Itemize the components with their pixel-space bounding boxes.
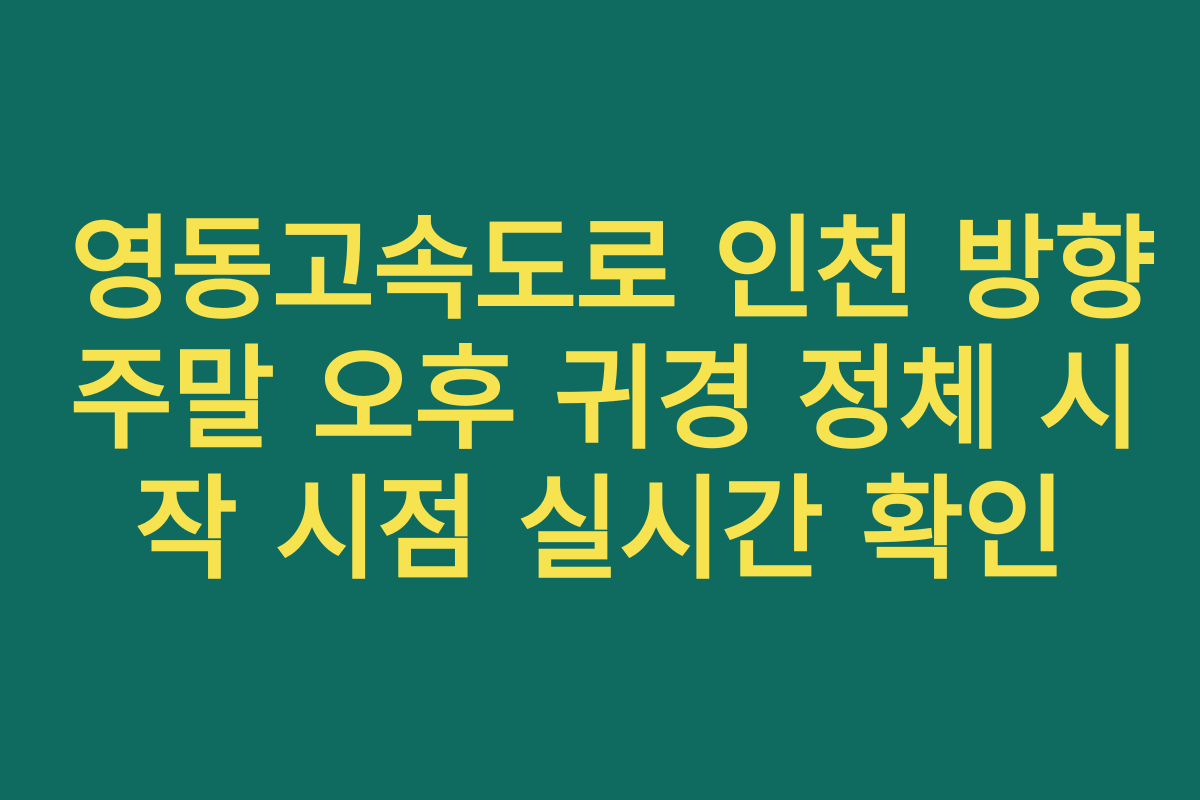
headline: 영동고속도로 인천 방향 주말 오후 귀경 정체 시 작 시점 실시간 확인 xyxy=(70,205,1130,595)
thumbnail-card: 영동고속도로 인천 방향 주말 오후 귀경 정체 시 작 시점 실시간 확인 xyxy=(0,0,1200,800)
headline-line-2: 주말 오후 귀경 정체 시 xyxy=(70,335,1130,465)
headline-line-3: 작 시점 실시간 확인 xyxy=(70,465,1130,595)
headline-line-1: 영동고속도로 인천 방향 xyxy=(70,205,1130,335)
